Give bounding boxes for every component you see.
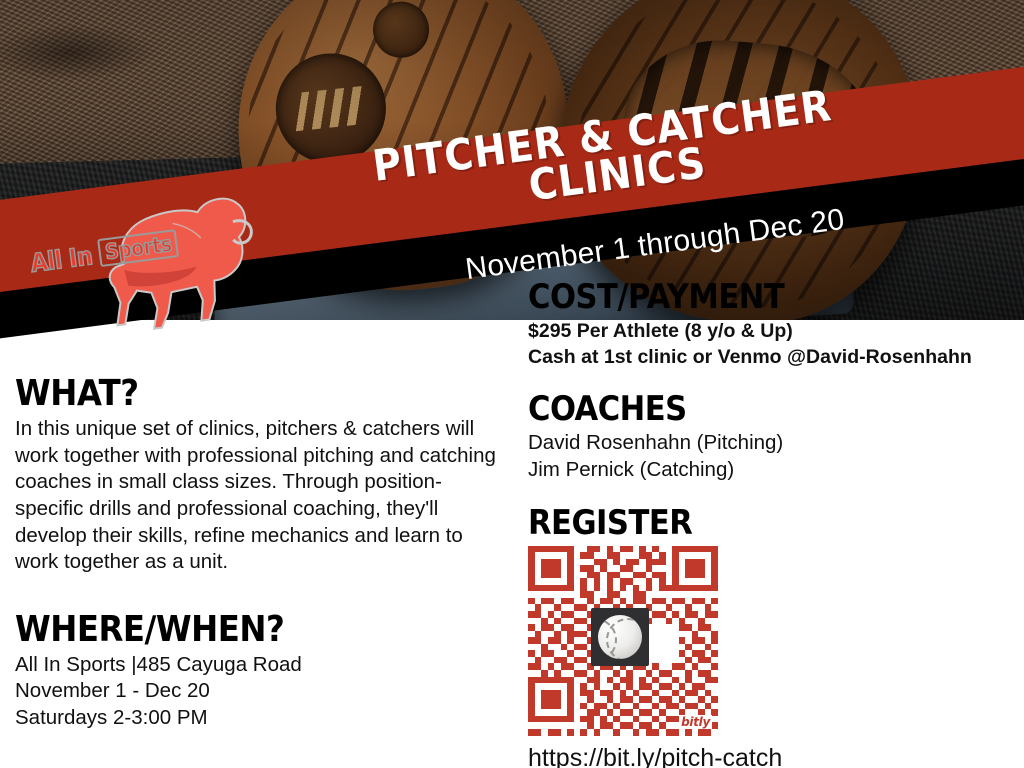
cost-line-2: Cash at 1st clinic or Venmo @David-Rosen… (528, 344, 1010, 370)
qr-center-logo (591, 608, 649, 666)
where-when-line-3: Saturdays 2-3:00 PM (15, 705, 505, 732)
coach-line-1: David Rosenhahn (Pitching) (528, 430, 1010, 457)
where-when-line-2: November 1 - Dec 20 (15, 678, 505, 705)
qr-module (711, 729, 718, 736)
baseball-icon (598, 615, 642, 659)
what-heading: WHAT? (15, 376, 505, 412)
qr-code[interactable]: bitly (528, 546, 718, 736)
bitly-brand-mark: bitly (679, 715, 712, 729)
spacer (15, 576, 505, 612)
right-content-column: COST/PAYMENT $295 Per Athlete (8 y/o & U… (528, 280, 1010, 768)
register-heading: REGISTER (528, 506, 1010, 540)
register-url[interactable]: https://bit.ly/pitch-catch (528, 744, 1010, 768)
where-when-line-1: All In Sports |485 Cayuga Road (15, 652, 505, 679)
left-content-column: WHAT? In this unique set of clinics, pit… (15, 376, 505, 732)
cost-heading: COST/PAYMENT (528, 280, 1010, 314)
what-body: In this unique set of clinics, pitchers … (15, 416, 505, 576)
flyer-canvas: All In Sports PITCHER & CATCHER CLINICS … (0, 0, 1024, 768)
coach-line-2: Jim Pernick (Catching) (528, 457, 1010, 484)
cost-line-1: $295 Per Athlete (8 y/o & Up) (528, 318, 1010, 344)
coaches-heading: COACHES (528, 392, 1010, 426)
logo-word-in: In (67, 241, 94, 273)
where-when-heading: WHERE/WHEN? (15, 612, 505, 648)
logo-word-all: All (29, 245, 64, 278)
